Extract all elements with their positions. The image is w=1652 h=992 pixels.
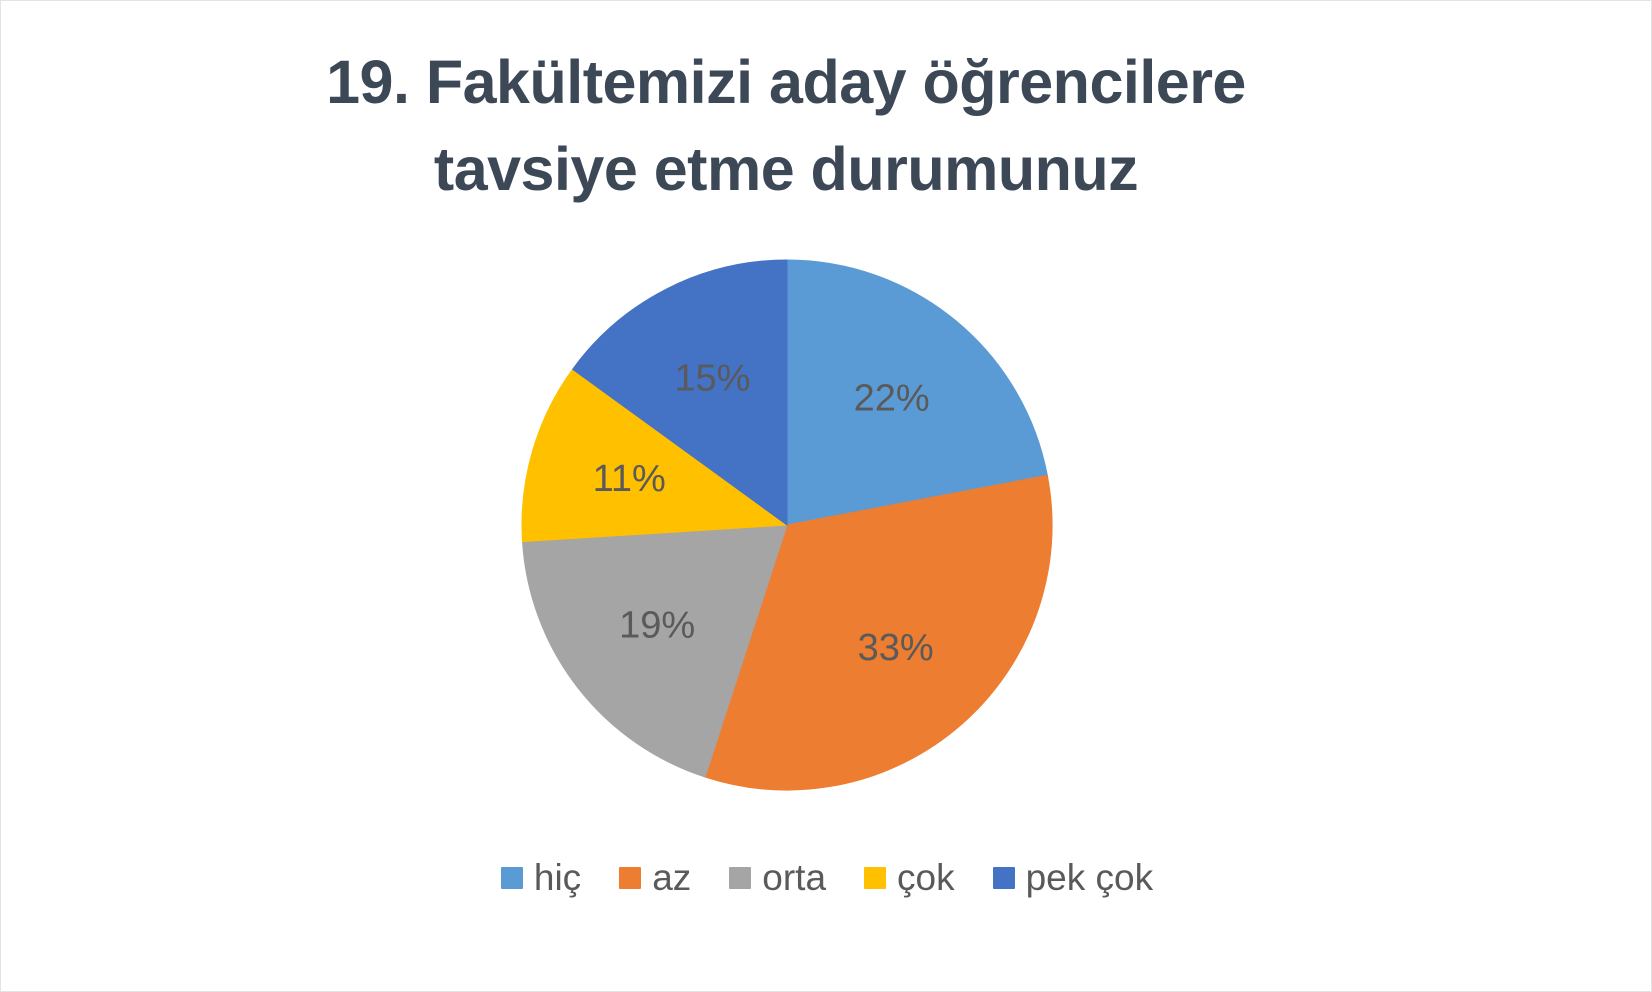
- pie-chart-plot: 22%33%19%11%15%: [521, 259, 1053, 791]
- legend-label: orta: [762, 859, 826, 896]
- legend-item-az[interactable]: az: [619, 859, 691, 896]
- pie-slice-label-az: 33%: [858, 627, 934, 669]
- pie-slice-group: [522, 260, 1052, 790]
- legend-swatch-icon-orta: [729, 867, 751, 889]
- pie-slice-label-çok: 11%: [593, 458, 666, 500]
- legend-swatch-icon-pek-çok: [993, 867, 1015, 889]
- legend-item-pek-çok[interactable]: pek çok: [993, 859, 1154, 896]
- legend-swatch-icon-az: [619, 867, 641, 889]
- legend-item-hiç[interactable]: hiç: [501, 859, 581, 896]
- legend-item-orta[interactable]: orta: [729, 859, 826, 896]
- pie-slice-label-pek-çok: 15%: [674, 358, 750, 400]
- legend-item-çok[interactable]: çok: [864, 859, 955, 896]
- legend-label: pek çok: [1026, 859, 1154, 896]
- chart-legend: hiçazortaçokpek çok: [1, 859, 1652, 896]
- page-title: 19. Fakültemizi aday öğrencilere tavsiye…: [141, 39, 1431, 212]
- legend-swatch-icon-hiç: [501, 867, 523, 889]
- pie-slice-label-hiç: 22%: [854, 377, 930, 419]
- legend-label: az: [652, 859, 691, 896]
- legend-swatch-icon-çok: [864, 867, 886, 889]
- pie-slice-label-orta: 19%: [619, 605, 695, 647]
- legend-label: çok: [897, 859, 955, 896]
- chart-card: 19. Fakültemizi aday öğrencilere tavsiye…: [0, 0, 1652, 992]
- legend-label: hiç: [534, 859, 581, 896]
- pie-chart-svg: 22%33%19%11%15%: [521, 259, 1053, 791]
